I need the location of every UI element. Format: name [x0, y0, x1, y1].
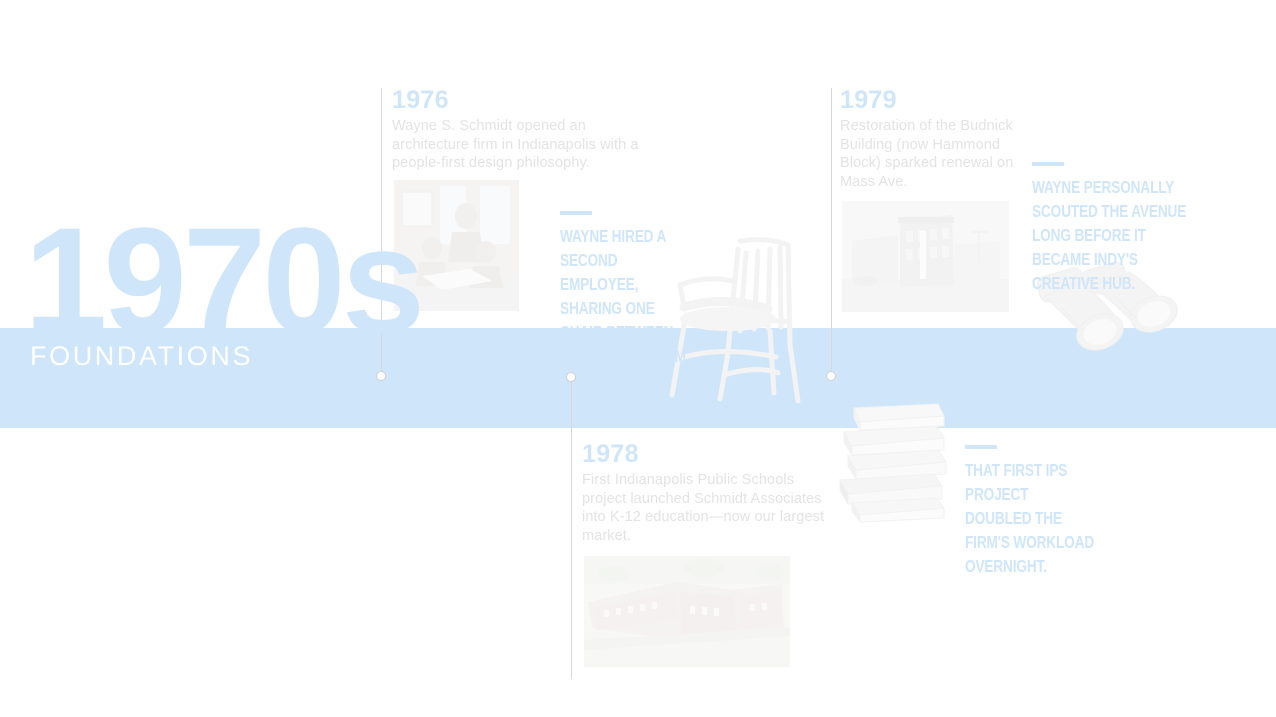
pullquote-rule — [1032, 162, 1064, 166]
event-1978: 1978 First Indianapolis Public Schools p… — [582, 440, 832, 545]
pullquote-text: That first IPS project doubled the firm'… — [965, 458, 1096, 578]
pullquote-rule — [560, 211, 592, 215]
event-year: 1978 — [582, 440, 832, 468]
event-description: Wayne S. Schmidt opened an architecture … — [392, 117, 642, 173]
event-year: 1976 — [392, 86, 642, 114]
pullquote-1979: Wayne personally scouted the Avenue long… — [1032, 162, 1232, 295]
decade-title: 1970s — [24, 205, 421, 355]
pullquote-text: Wayne personally scouted the Avenue long… — [1032, 175, 1196, 295]
connector-stem — [831, 88, 832, 375]
connector-1978 — [565, 372, 577, 680]
pullquote-1976: Wayne hired a second employee, sharing o… — [560, 211, 790, 368]
connector-stem — [571, 381, 572, 679]
connector-endpoint-dot — [376, 371, 386, 381]
budnick-building-photo — [842, 201, 1009, 312]
pullquote-text: Wayne hired a second employee, sharing o… — [560, 224, 699, 368]
pullquote-rule — [965, 445, 997, 449]
ips-school-aerial-photo — [584, 556, 790, 667]
pullquote-1978: That first IPS project doubled the firm'… — [965, 445, 1155, 578]
stacked-books-illustration — [826, 398, 958, 523]
event-1979: 1979 Restoration of the Budnick Building… — [840, 86, 1040, 191]
event-description: First Indianapolis Public Schools projec… — [582, 471, 832, 545]
connector-1979 — [825, 88, 837, 388]
connector-endpoint-dot — [826, 371, 836, 381]
event-description: Restoration of the Budnick Building (now… — [840, 117, 1040, 191]
event-year: 1979 — [840, 86, 1040, 114]
event-1976: 1976 Wayne S. Schmidt opened an architec… — [392, 86, 642, 173]
